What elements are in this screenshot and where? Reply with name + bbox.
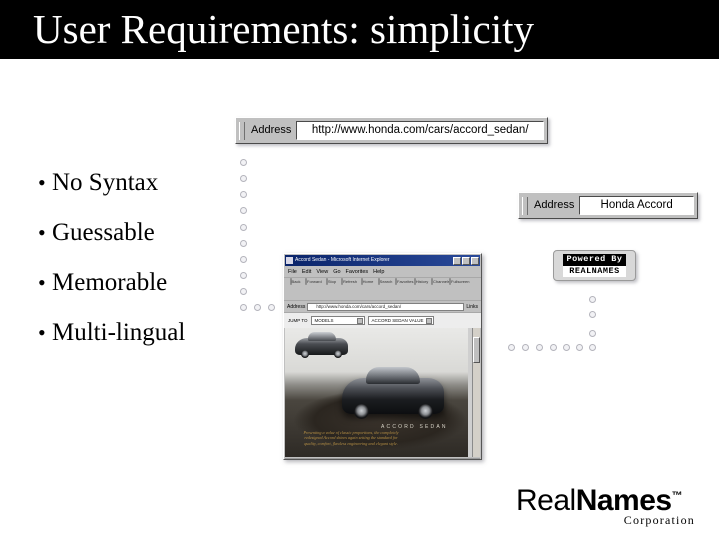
toolbar-channels-button[interactable]: Channels: [431, 279, 447, 284]
vertical-scrollbar[interactable]: [472, 328, 480, 457]
badge-powered-by-text: Powered By: [563, 254, 626, 265]
trail-dot: [589, 344, 596, 351]
slide-canvas: User Requirements: simplicity •No Syntax…: [0, 0, 719, 539]
address-bar-url[interactable]: Address http://www.honda.com/cars/accord…: [235, 117, 548, 144]
trail-dot: [589, 296, 596, 303]
browser-title-bar: Accord Sedan - Microsoft Internet Explor…: [285, 255, 480, 266]
scrollbar-thumb[interactable]: [287, 459, 437, 460]
list-item-label: Guessable: [52, 219, 155, 246]
menu-item-file[interactable]: File: [288, 269, 297, 275]
toolbar-fullscreen-button[interactable]: Fullscreen: [449, 279, 465, 284]
trail-dot: [240, 256, 247, 263]
browser-app-icon: [286, 257, 293, 264]
toolbar-home-button[interactable]: Home: [359, 279, 375, 284]
realnames-logo: RealNames™ Corporation: [516, 481, 701, 527]
wheel-icon: [334, 350, 342, 358]
toolbar-back-label: Back: [292, 279, 301, 284]
trail-dot: [240, 224, 247, 231]
trademark-icon: ™: [672, 490, 683, 502]
trail-dot: [240, 159, 247, 166]
honda-accord-hero-image: ACCORD SEDAN Presenting a value of class…: [285, 328, 468, 457]
bullet-marker-icon: •: [38, 208, 52, 258]
trail-dot: [240, 240, 247, 247]
address-label: Address: [248, 123, 296, 138]
address-bar-realname[interactable]: Address Honda Accord: [518, 192, 698, 219]
trail-dot: [522, 344, 529, 351]
toolbar-search-button[interactable]: Search: [377, 279, 393, 284]
page-jump-label: JUMP TO: [288, 318, 308, 323]
browser-address-label: Address: [287, 304, 305, 310]
toolbar-stop-label: Stop: [328, 279, 336, 284]
trail-dot: [240, 191, 247, 198]
page-title: User Requirements: simplicity: [33, 4, 534, 54]
badge-realnames-text: REALNAMES: [563, 265, 626, 277]
accord-sedan-car-image: [342, 378, 444, 414]
bullet-marker-icon: •: [38, 158, 52, 208]
close-icon[interactable]: [471, 257, 479, 265]
browser-toolbar: Back Forward Stop Refresh Home Search: [284, 278, 481, 301]
menu-item-edit[interactable]: Edit: [302, 269, 311, 275]
browser-address-row: Address http://www.honda.com/cars/accord…: [284, 301, 481, 313]
trail-dot: [550, 344, 557, 351]
browser-menu-bar: File Edit View Go Favorites Help: [284, 267, 481, 278]
models-dropdown[interactable]: MODELS: [311, 316, 365, 325]
browser-address-input[interactable]: http://www.honda.com/cars/accord_sedan/: [307, 303, 464, 311]
toolbar-search-label: Search: [380, 279, 393, 284]
trail-dot: [240, 175, 247, 182]
hero-caption: Presenting a value of classic proportion…: [303, 430, 399, 446]
toolbar-history-button[interactable]: History: [413, 279, 429, 284]
list-item-label: Multi-lingual: [52, 319, 185, 346]
trail-dot: [240, 207, 247, 214]
list-item: •Memorable: [38, 258, 278, 308]
trail-dot: [240, 288, 247, 295]
toolbar-stop-button[interactable]: Stop: [323, 279, 339, 284]
address-input-url[interactable]: http://www.honda.com/cars/accord_sedan/: [296, 121, 544, 140]
powered-by-realnames-badge: Powered By REALNAMES: [553, 250, 636, 281]
menu-item-favorites[interactable]: Favorites: [346, 269, 369, 275]
toolbar-history-label: History: [416, 279, 428, 284]
browser-page-content: ACCORD SEDAN Presenting a value of class…: [285, 328, 480, 457]
trail-dot: [240, 272, 247, 279]
trim-dropdown[interactable]: ACCORD SEDAN VALUE: [368, 316, 434, 325]
toolbar-channels-label: Channels: [433, 279, 450, 284]
browser-links-label[interactable]: Links: [466, 304, 478, 310]
bullet-marker-icon: •: [38, 308, 52, 358]
browser-window-buttons: [453, 257, 479, 265]
car-thumbnail-image: [295, 338, 348, 355]
toolbar-favorites-label: Favorites: [397, 279, 413, 284]
trail-dot: [254, 304, 261, 311]
wheel-icon: [301, 350, 309, 358]
toolbar-grip-handle[interactable]: [239, 122, 245, 140]
wheel-icon: [418, 404, 433, 419]
page-jump-row: JUMP TO MODELS ACCORD SEDAN VALUE: [284, 313, 481, 328]
bullet-marker-icon: •: [38, 258, 52, 308]
toolbar-refresh-label: Refresh: [343, 279, 357, 284]
trail-dot: [589, 311, 596, 318]
toolbar-home-label: Home: [363, 279, 374, 284]
list-item: •Guessable: [38, 208, 278, 258]
trail-dot: [563, 344, 570, 351]
trail-dot: [589, 330, 596, 337]
maximize-icon[interactable]: [462, 257, 470, 265]
address-label: Address: [531, 198, 579, 213]
trail-dot: [536, 344, 543, 351]
toolbar-forward-button[interactable]: Forward: [305, 279, 321, 284]
browser-window-mock: Accord Sedan - Microsoft Internet Explor…: [283, 253, 482, 460]
toolbar-favorites-button[interactable]: Favorites: [395, 279, 411, 284]
list-item: •Multi-lingual: [38, 308, 278, 358]
trail-dot: [508, 344, 515, 351]
logo-wordmark: RealNames™: [516, 481, 701, 516]
trail-dot: [240, 304, 247, 311]
browser-title-text: Accord Sedan - Microsoft Internet Explor…: [295, 257, 453, 264]
menu-item-help[interactable]: Help: [373, 269, 384, 275]
horizontal-scrollbar[interactable]: [285, 458, 480, 460]
list-item-label: Memorable: [52, 269, 167, 296]
menu-item-view[interactable]: View: [316, 269, 328, 275]
badge-inner: Powered By REALNAMES: [563, 254, 626, 277]
minimize-icon[interactable]: [453, 257, 461, 265]
trail-dot: [576, 344, 583, 351]
toolbar-back-button[interactable]: Back: [287, 279, 303, 284]
menu-item-go[interactable]: Go: [333, 269, 340, 275]
toolbar-forward-label: Forward: [307, 279, 322, 284]
scrollbar-thumb[interactable]: [473, 337, 480, 363]
logo-real-text: Real: [516, 484, 576, 517]
toolbar-fullscreen-label: Fullscreen: [451, 279, 469, 284]
list-item-label: No Syntax: [52, 169, 158, 196]
wheel-icon: [354, 404, 369, 419]
trail-dot: [268, 304, 275, 311]
toolbar-refresh-button[interactable]: Refresh: [341, 279, 357, 284]
toolbar-grip-handle[interactable]: [522, 197, 528, 215]
address-input-realname[interactable]: Honda Accord: [579, 196, 694, 215]
